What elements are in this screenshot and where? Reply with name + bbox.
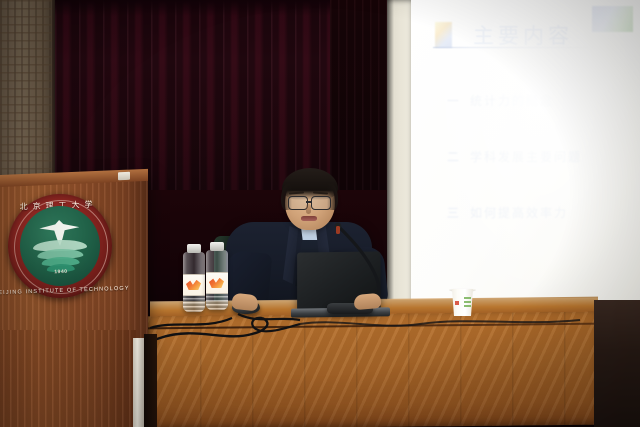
acoustic-wall-panel [0, 0, 56, 196]
bottle-cap [187, 244, 201, 253]
lectern-top-object [118, 172, 130, 181]
mouth [301, 216, 317, 221]
lectern-support-leg [133, 338, 144, 427]
eyeglasses-lens-right [311, 196, 331, 210]
slide-title-icon [435, 22, 452, 48]
lecture-photo-scene: 主要内容 一统计力的概念 二学科发展主要问题 三如何提高效率力 [0, 0, 640, 427]
eyeglasses-bridge [306, 201, 312, 203]
slide-bullet-text: 统计力的概念 [470, 94, 554, 108]
nose [306, 204, 311, 214]
bottle-cap [210, 242, 224, 251]
bottle-label-mark [186, 279, 201, 290]
slide-bullet-text: 如何提高效率力 [470, 206, 568, 220]
lectern-lower-panel [0, 330, 136, 427]
slide-bullet-text: 学科发展主要问题 [470, 150, 582, 164]
emblem-year: 1940 [54, 269, 67, 275]
slide-bullet-marker: 二 [447, 150, 461, 164]
slide-bullet-marker: 三 [447, 206, 461, 220]
slide-bullet-1: 一统计力的概念 [447, 92, 554, 109]
slide-bullet-3: 三如何提高效率力 [447, 204, 568, 221]
eyeglasses-lens-left [288, 196, 308, 210]
projection-screen: 主要内容 一统计力的概念 二学科发展主要问题 三如何提高效率力 [411, 0, 640, 312]
slide-bullet-marker: 一 [447, 94, 461, 108]
slide-title: 主要内容 [473, 20, 573, 50]
slide-corner-logo-icon [592, 6, 633, 32]
bottle-label-mark [209, 277, 224, 288]
lectern-side-gap [144, 334, 157, 427]
slide-bullet-2: 二学科发展主要问题 [447, 148, 582, 165]
